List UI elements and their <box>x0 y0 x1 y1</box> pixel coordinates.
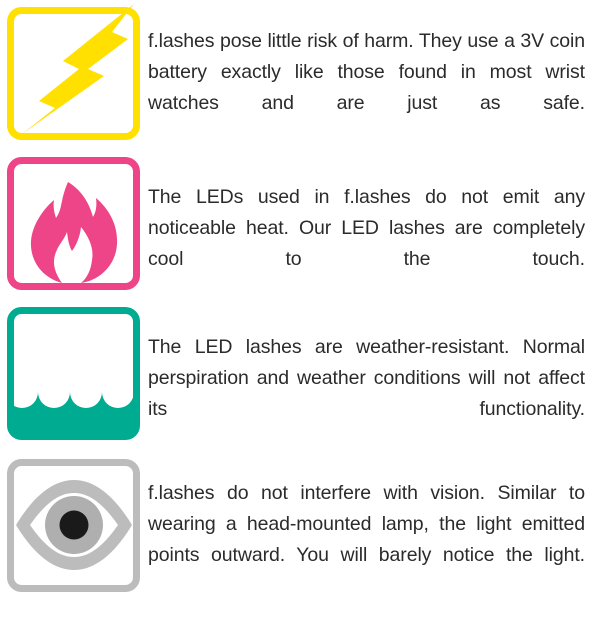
faq-item-lightning: f.lashes pose little risk of harm. They … <box>0 0 600 150</box>
eye-icon <box>0 450 148 600</box>
flame-icon-cell <box>0 150 148 300</box>
lightning-bolt-icon-cell <box>0 0 148 150</box>
faq-text-eye: f.lashes do not interfere with vision. S… <box>148 478 585 602</box>
faq-item-flame: The LEDs used in f.lashes do not emit an… <box>0 150 600 300</box>
faq-item-eye: f.lashes do not interfere with vision. S… <box>0 450 600 600</box>
water-waves-icon-cell <box>0 300 148 450</box>
lightning-bolt-icon <box>0 0 148 150</box>
flame-icon-glyph <box>31 182 117 283</box>
faq-text-cell: f.lashes do not interfere with vision. S… <box>148 450 600 628</box>
faq-list: f.lashes pose little risk of harm. They … <box>0 0 600 600</box>
faq-text-flame: The LEDs used in f.lashes do not emit an… <box>148 182 585 306</box>
flame-icon <box>0 150 148 300</box>
water-waves-icon <box>0 300 148 450</box>
eye-icon-pupil <box>60 511 89 540</box>
eye-icon-cell <box>0 450 148 600</box>
faq-text-water: The LED lashes are weather-resistant. No… <box>148 332 585 456</box>
faq-text-lightning: f.lashes pose little risk of harm. They … <box>148 26 585 150</box>
lightning-bolt-icon-glyph <box>22 4 134 134</box>
faq-item-water: The LED lashes are weather-resistant. No… <box>0 300 600 450</box>
